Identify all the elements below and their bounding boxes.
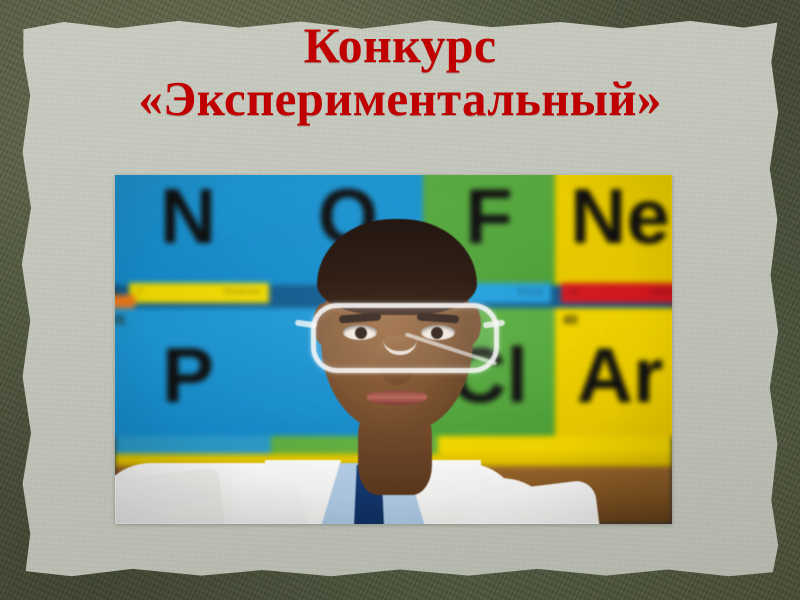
lab-photo: N O F Ne 7 Нитроген 9 Флуор xyxy=(115,175,672,524)
title-line-1: Конкурс xyxy=(0,18,800,72)
title-line-2: «Экспериментальный» xyxy=(0,72,800,126)
hair xyxy=(317,219,477,315)
student-figure xyxy=(115,175,672,524)
goggles-bridge xyxy=(383,325,417,355)
lab-coat-shoulder-left xyxy=(115,467,231,524)
mouth xyxy=(367,391,427,405)
slide: Конкурс «Экспериментальный» N O F Ne xyxy=(0,0,800,600)
page-title: Конкурс «Экспериментальный» xyxy=(0,18,800,126)
